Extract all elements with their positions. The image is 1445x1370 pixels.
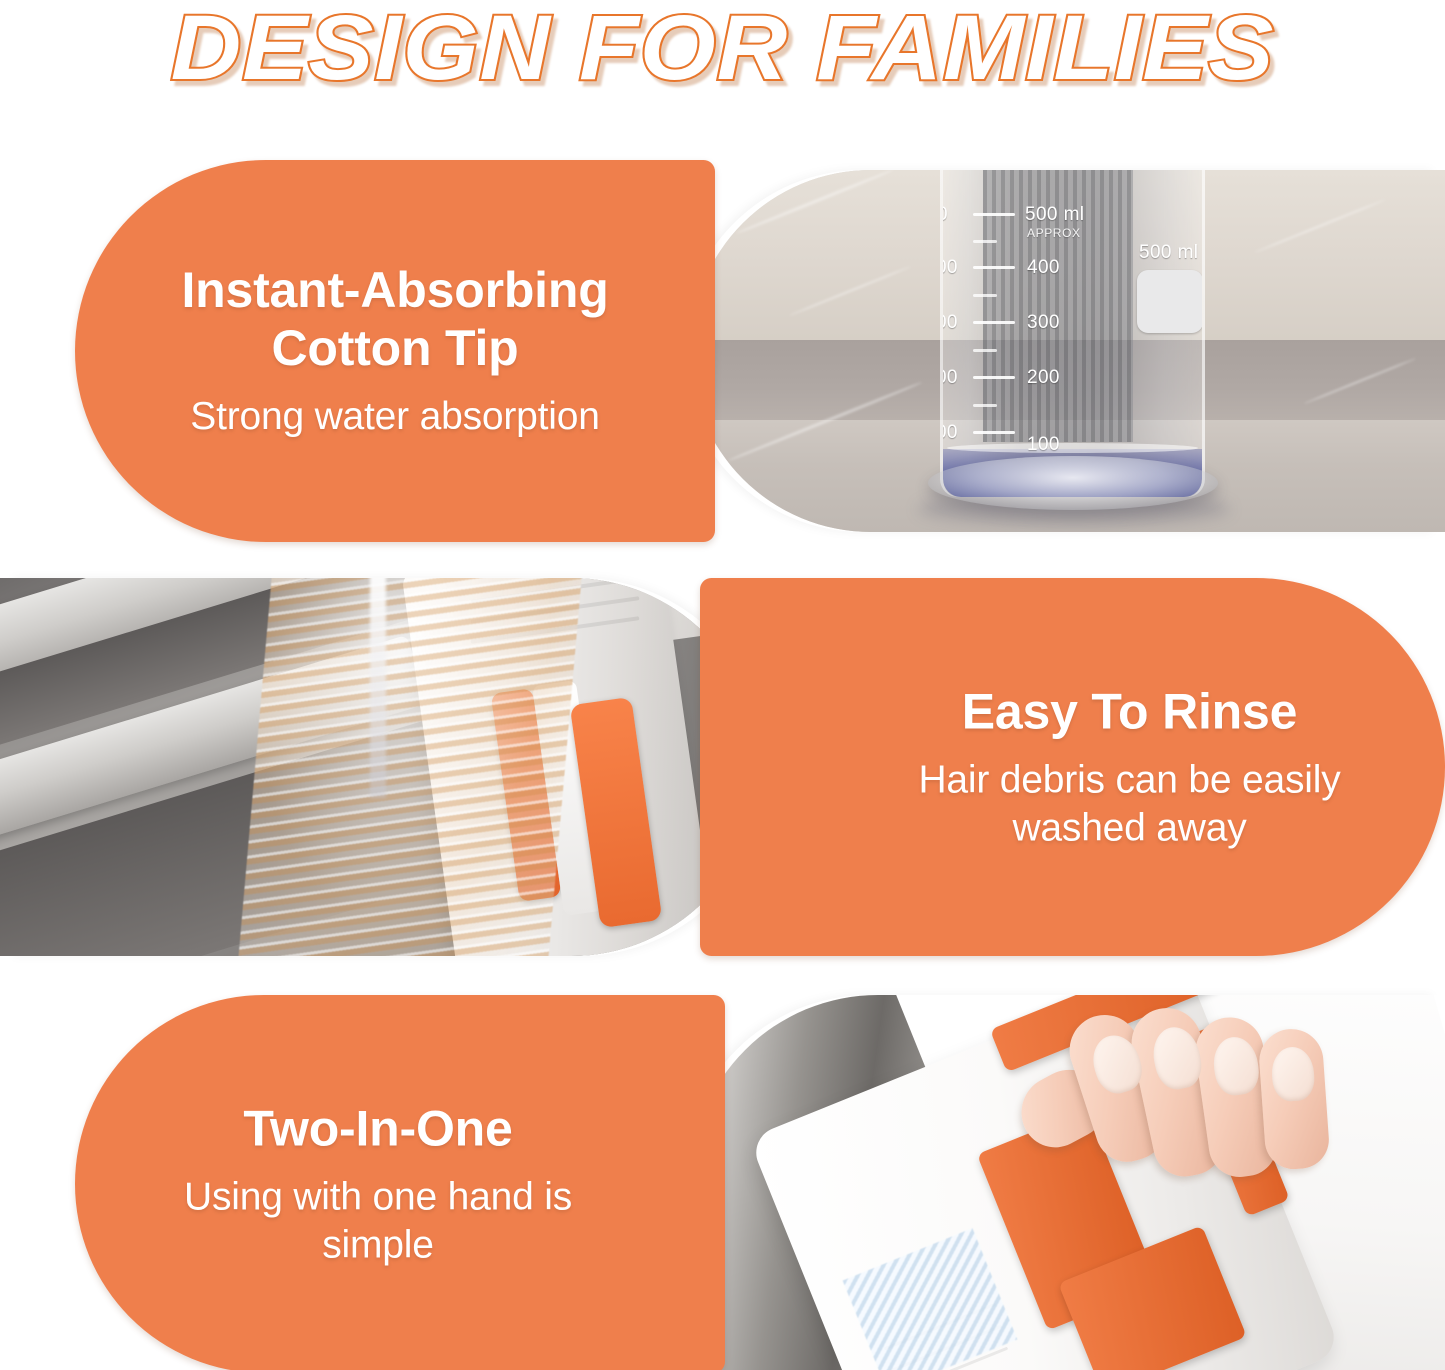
feature-subtitle: Using with one hand is simple bbox=[178, 1173, 578, 1268]
beaker-capacity-badge bbox=[1137, 270, 1203, 333]
feature-pill-two-in-one: Two-In-One Using with one hand is simple bbox=[75, 995, 725, 1370]
beaker-scale-left-400: 400 bbox=[940, 422, 958, 444]
beaker-tick-minor bbox=[973, 294, 997, 297]
beaker-base bbox=[928, 456, 1218, 510]
page-title: DESIGN FOR FAMILIES bbox=[171, 2, 1275, 94]
beaker-rim-line bbox=[947, 443, 1198, 453]
beaker-scale-left-0: 0 bbox=[940, 204, 948, 226]
beaker-tick-minor bbox=[973, 349, 997, 352]
beaker-tick-minor bbox=[973, 240, 997, 243]
feature-photo-beaker: 0 100 200 300 400 500 ml APPROX 400 bbox=[690, 170, 1445, 532]
feature-pill-easy-to-rinse: Easy To Rinse Hair debris can be easily … bbox=[700, 578, 1445, 956]
beaker-scale-right-300: 300 bbox=[1027, 312, 1060, 334]
beaker-tick-minor bbox=[973, 404, 997, 407]
water-spray bbox=[238, 578, 583, 956]
promo-page: DESIGN FOR FAMILIES 0 100 200 300 bbox=[0, 0, 1445, 1370]
feature-text-block: Two-In-One Using with one hand is simple bbox=[75, 1099, 725, 1268]
beaker-scale-left-100: 100 bbox=[940, 257, 958, 279]
feature-photo-one-hand-grip bbox=[690, 995, 1445, 1370]
beaker-scale-right-200: 200 bbox=[1027, 367, 1060, 389]
feature-title: Instant-Absorbing Cotton Tip bbox=[101, 261, 689, 377]
feature-text-block: Easy To Rinse Hair debris can be easily … bbox=[700, 682, 1445, 851]
beaker-scale-left-200: 200 bbox=[940, 312, 958, 334]
beaker-tick-major bbox=[973, 431, 1015, 434]
beaker-tick-major bbox=[973, 321, 1015, 324]
beaker-capacity-label: 500 ml bbox=[1139, 242, 1198, 264]
beaker-tick-major bbox=[973, 213, 1015, 216]
page-header: DESIGN FOR FAMILIES bbox=[0, 0, 1445, 120]
beaker-scale-right-500: 500 ml bbox=[1025, 204, 1084, 226]
beaker-scale-left-300: 300 bbox=[940, 367, 958, 389]
water-jet bbox=[370, 578, 386, 798]
feature-title: Easy To Rinse bbox=[840, 682, 1419, 740]
measuring-beaker: 0 100 200 300 400 500 ml APPROX 400 bbox=[940, 170, 1205, 497]
feature-subtitle: Strong water absorption bbox=[101, 393, 689, 441]
beaker-tick-major bbox=[973, 266, 1015, 269]
beaker-scale-right-100: 100 bbox=[1027, 434, 1060, 456]
beaker-scale-right-400: 400 bbox=[1027, 257, 1060, 279]
beaker-tick-major bbox=[973, 376, 1015, 379]
beaker-approx-note: APPROX bbox=[1027, 226, 1081, 240]
feature-photo-rinsing-mop bbox=[0, 578, 760, 956]
feature-subtitle: Hair debris can be easily washed away bbox=[895, 756, 1365, 851]
feature-text-block: Instant-Absorbing Cotton Tip Strong wate… bbox=[75, 261, 715, 441]
feature-pill-instant-absorbing-cotton-tip: Instant-Absorbing Cotton Tip Strong wate… bbox=[75, 160, 715, 542]
feature-title: Two-In-One bbox=[101, 1099, 655, 1157]
